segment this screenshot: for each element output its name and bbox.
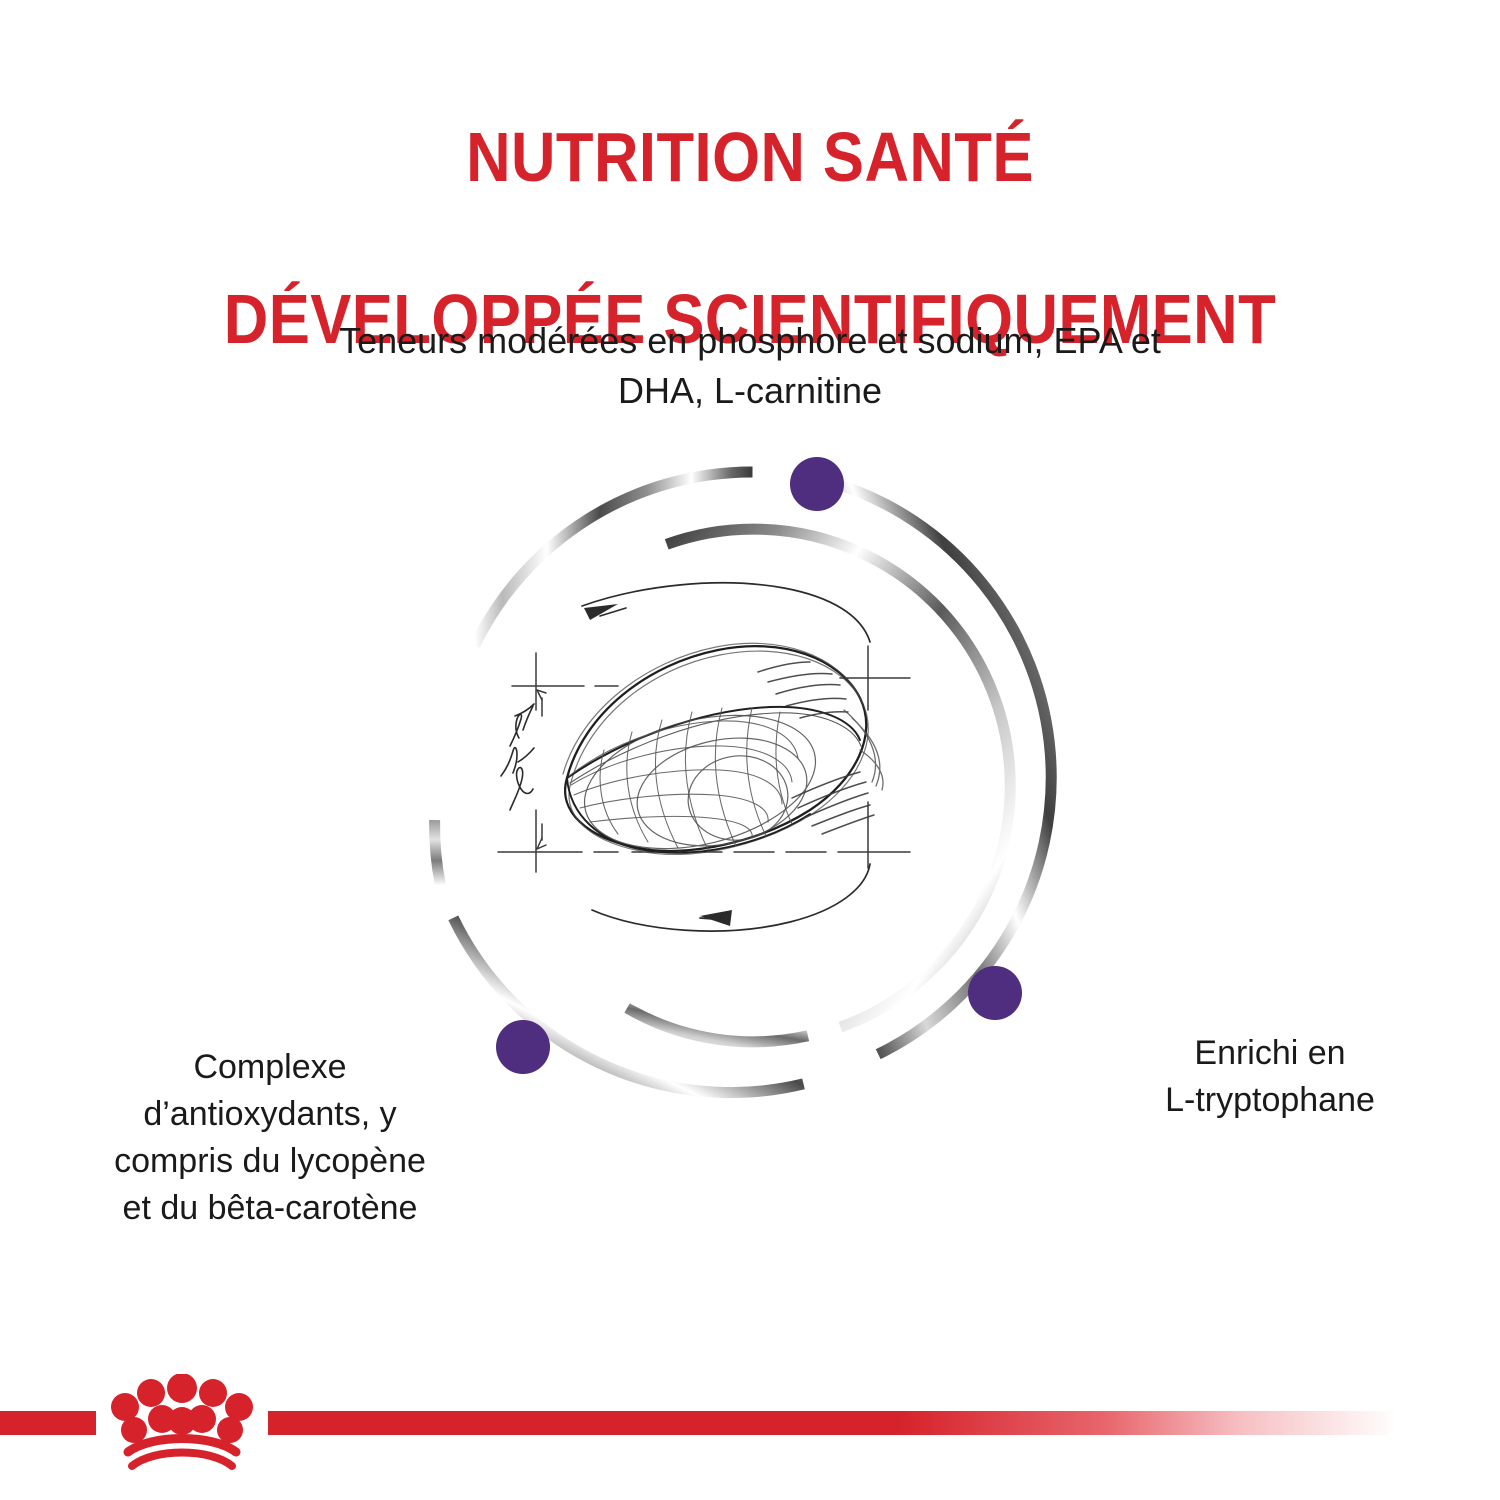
kibble-crease xyxy=(567,707,861,783)
callout-tryptophane: Enrichi en L-tryptophane xyxy=(1060,1030,1480,1124)
crown-dot-top-5 xyxy=(225,1393,253,1421)
kibble-right-tip xyxy=(844,710,883,790)
royal-canin-crown-logo xyxy=(104,1374,260,1478)
crown-arc-lower xyxy=(132,1453,232,1467)
crown-dot-mid-4 xyxy=(217,1417,243,1443)
inner-arc-bottom-left xyxy=(627,1008,808,1042)
crown-dot-top-2 xyxy=(137,1379,165,1407)
outer-arc-left xyxy=(435,820,441,885)
callout-antioxidants: Complexe d’antioxydants, y compris du ly… xyxy=(30,1044,510,1232)
kibble-mesh-longitudinal xyxy=(569,721,798,838)
outer-ring xyxy=(435,472,1052,1093)
outer-arc-top-left xyxy=(475,472,753,646)
sketch-handwriting xyxy=(501,704,534,810)
sketch-arrows xyxy=(582,583,870,931)
dot-top[interactable] xyxy=(790,457,844,511)
crown-dot-mid-1 xyxy=(121,1417,147,1443)
kibble-depth-rings xyxy=(571,693,830,870)
inner-ring xyxy=(627,529,1010,1042)
kibble-shading-lower xyxy=(792,772,874,834)
crown-dot-top-1 xyxy=(111,1393,139,1421)
footer-bar-right xyxy=(268,1411,1398,1435)
crown-dot-centre xyxy=(168,1407,196,1435)
page-root: NUTRITION SANTÉ DÉVELOPPÉE SCIENTIFIQUEM… xyxy=(0,0,1500,1500)
outer-arc-right xyxy=(833,483,1052,1055)
page-title-line-1: NUTRITION SANTÉ xyxy=(90,117,1410,198)
crown-dot-top-4 xyxy=(199,1379,227,1407)
footer-bar-left xyxy=(0,1411,96,1435)
crown-dot-top-3 xyxy=(167,1374,197,1403)
subtitle-text: Teneurs modérées en phosphore et sodium,… xyxy=(250,316,1250,416)
kibble-shading xyxy=(758,662,848,718)
kibble-technical-sketch xyxy=(498,583,910,931)
dot-right[interactable] xyxy=(968,966,1022,1020)
